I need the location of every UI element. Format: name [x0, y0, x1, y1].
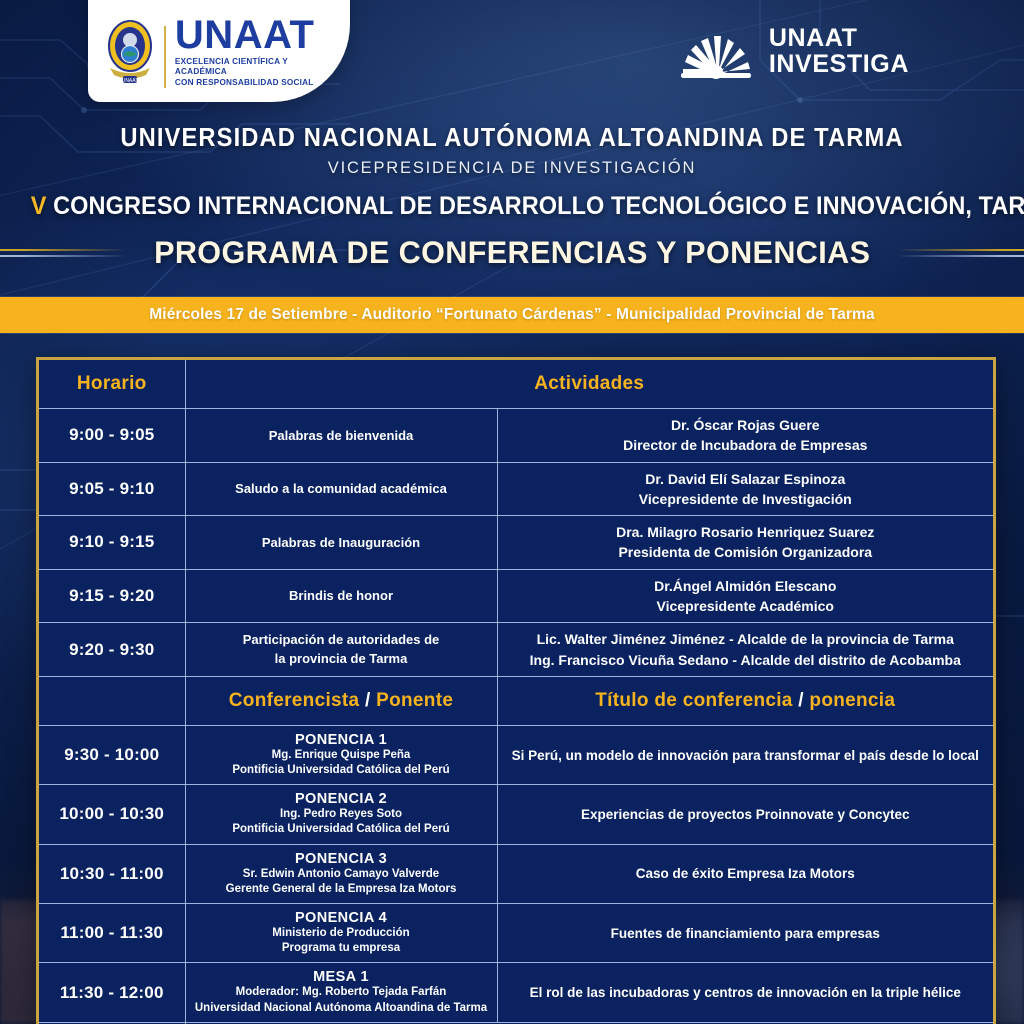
header-slash: /: [793, 690, 810, 711]
rule-left: [0, 247, 127, 259]
unaat-logo-card: UNAAT UNAAT EXCELENCIA CIENTÍFICA Y ACAD…: [88, 0, 350, 102]
cell-speaker: MESA 1 Moderador: Mg. Roberto Tejada Far…: [185, 963, 497, 1022]
cell-time: 9:30 - 10:00: [39, 725, 185, 784]
person-role: Director de Incubadora de Empresas: [506, 435, 986, 455]
congress-title: V CONGRESO INTERNACIONAL DE DESARROLLO T…: [31, 192, 994, 221]
moderator-name: Moderador: Mg. Roberto Tejada Farfán: [194, 985, 489, 1000]
investiga-line1: UNAAT: [769, 25, 909, 51]
date-venue-text: Miércoles 17 de Setiembre - Auditorio “F…: [149, 306, 875, 324]
header-ponente-text: Ponente: [376, 690, 453, 711]
cell-time: 9:10 - 9:15: [39, 516, 185, 570]
speaker-name: Mg. Enrique Quispe Peña: [194, 748, 489, 763]
cell-time: 9:00 - 9:05: [39, 409, 185, 463]
person-name: Dr. David Elí Salazar Espinoza: [506, 469, 986, 489]
person-role: Vicepresidente de Investigación: [506, 489, 986, 509]
cell-activity: Palabras de Inauguración: [185, 516, 497, 570]
cell-activity: Saludo a la comunidad académica: [185, 462, 497, 516]
table-row: 11:00 - 11:30 PONENCIA 4 Ministerio de P…: [39, 904, 993, 963]
cell-talk-title: Experiencias de proyectos Proinnovate y …: [497, 785, 993, 844]
moderator-affiliation: Universidad Nacional Autónoma Altoandina…: [194, 1001, 489, 1016]
cell-speaker: PONENCIA 1 Mg. Enrique Quispe Peña Ponti…: [185, 725, 497, 784]
table-row: 9:30 - 10:00 PONENCIA 1 Mg. Enrique Quis…: [39, 725, 993, 784]
header-slash: /: [359, 690, 376, 711]
person-name: Dr.Ángel Almidón Elescano: [506, 576, 986, 596]
cell-person: Dr. Óscar Rojas Guere Director de Incuba…: [497, 409, 993, 463]
cell-activity: Participación de autoridades de la provi…: [185, 623, 497, 677]
cell-time: 11:00 - 11:30: [39, 904, 185, 963]
date-venue-band: Miércoles 17 de Setiembre - Auditorio “F…: [0, 297, 1024, 333]
cell-person: Lic. Walter Jiménez Jiménez - Alcalde de…: [497, 623, 993, 677]
ponencia-label: PONENCIA 3: [194, 851, 489, 867]
ponencia-label: PONENCIA 4: [194, 910, 489, 926]
person-name: Dra. Milagro Rosario Henriquez Suarez: [506, 522, 986, 542]
speaker-name: Ing. Pedro Reyes Soto: [194, 807, 489, 822]
program-table-container: Horario Actividades 9:00 - 9:05 Palabras…: [36, 357, 996, 1024]
title-block: UNIVERSIDAD NACIONAL AUTÓNOMA ALTOANDINA…: [0, 124, 1024, 271]
cell-activity: Palabras de bienvenida: [185, 409, 497, 463]
speaker-name: Sr. Edwin Antonio Camayo Valverde: [194, 867, 489, 882]
svg-text:UNAAT: UNAAT: [122, 78, 139, 84]
person-name: Lic. Walter Jiménez Jiménez - Alcalde de…: [506, 629, 986, 649]
congress-roman-numeral: V: [31, 192, 47, 220]
program-table: Horario Actividades 9:00 - 9:05 Palabras…: [39, 360, 993, 1024]
table-section-header-row: Conferencista / Ponente Título de confer…: [39, 676, 993, 725]
table-row: 9:10 - 9:15 Palabras de Inauguración Dra…: [39, 516, 993, 570]
table-row: 9:15 - 9:20 Brindis de honor Dr.Ángel Al…: [39, 569, 993, 623]
column-header-titulo: Título de conferencia / ponencia: [497, 676, 993, 725]
university-title: UNIVERSIDAD NACIONAL AUTÓNOMA ALTOANDINA…: [36, 124, 988, 153]
sunburst-rays-icon: [679, 22, 753, 80]
person-role: Vicepresidente Académico: [506, 596, 986, 616]
cell-time: 9:05 - 9:10: [39, 462, 185, 516]
cell-talk-title: Si Perú, un modelo de innovación para tr…: [497, 725, 993, 784]
cell-talk-title: El rol de las incubadoras y centros de i…: [497, 963, 993, 1022]
program-title-row: PROGRAMA DE CONFERENCIAS Y PONENCIAS: [0, 234, 1024, 271]
cell-person: Dr. David Elí Salazar Espinoza Vicepresi…: [497, 462, 993, 516]
speaker-name: Ministerio de Producción: [194, 926, 489, 941]
table-row: 9:00 - 9:05 Palabras de bienvenida Dr. Ó…: [39, 409, 993, 463]
table-header-row: Horario Actividades: [39, 360, 993, 409]
unaat-tagline-line2: CON RESPONSABILIDAD SOCIAL: [175, 78, 336, 89]
speaker-affiliation: Programa tu empresa: [194, 941, 489, 956]
cell-time: 10:00 - 10:30: [39, 785, 185, 844]
column-header-horario: Horario: [39, 360, 185, 409]
person-name: Dr. Óscar Rojas Guere: [506, 415, 986, 435]
cell-person: Dra. Milagro Rosario Henriquez Suarez Pr…: [497, 516, 993, 570]
cell-talk-title: Fuentes de financiamiento para empresas: [497, 904, 993, 963]
vicepresidency-subtitle: VICEPRESIDENCIA DE INVESTIGACIÓN: [0, 159, 1024, 178]
activity-line2: la provincia de Tarma: [194, 650, 489, 669]
header-conferencista-text: Conferencista: [229, 690, 360, 711]
cell-speaker: PONENCIA 4 Ministerio de Producción Prog…: [185, 904, 497, 963]
cell-person: Dr.Ángel Almidón Elescano Vicepresidente…: [497, 569, 993, 623]
person-role: Presidenta de Comisión Organizadora: [506, 542, 986, 562]
section-header-spacer: [39, 676, 185, 725]
unaat-tagline-line1: EXCELENCIA CIENTÍFICA Y ACADÉMICA: [175, 57, 336, 78]
cell-time: 11:30 - 12:00: [39, 963, 185, 1022]
table-row: 9:05 - 9:10 Saludo a la comunidad académ…: [39, 462, 993, 516]
table-row: 10:30 - 11:00 PONENCIA 3 Sr. Edwin Anton…: [39, 844, 993, 903]
cell-speaker: PONENCIA 2 Ing. Pedro Reyes Soto Pontifi…: [185, 785, 497, 844]
cell-speaker: PONENCIA 3 Sr. Edwin Antonio Camayo Valv…: [185, 844, 497, 903]
cell-time: 10:30 - 11:00: [39, 844, 185, 903]
header-ponencia-text: ponencia: [809, 690, 895, 711]
ponencia-label: PONENCIA 1: [194, 732, 489, 748]
cell-time: 9:15 - 9:20: [39, 569, 185, 623]
table-row: 10:00 - 10:30 PONENCIA 2 Ing. Pedro Reye…: [39, 785, 993, 844]
person-role: Ing. Francisco Vicuña Sedano - Alcalde d…: [506, 650, 986, 670]
speaker-affiliation: Gerente General de la Empresa Iza Motors: [194, 882, 489, 897]
congress-title-text: CONGRESO INTERNACIONAL DE DESARROLLO TEC…: [46, 192, 1024, 220]
mesa-label: MESA 1: [194, 969, 489, 985]
table-row: 9:20 - 9:30 Participación de autoridades…: [39, 623, 993, 677]
speaker-affiliation: Pontificia Universidad Católica del Perú: [194, 763, 489, 778]
cell-talk-title: Caso de éxito Empresa Iza Motors: [497, 844, 993, 903]
table-row: 11:30 - 12:00 MESA 1 Moderador: Mg. Robe…: [39, 963, 993, 1022]
program-title: PROGRAMA DE CONFERENCIAS Y PONENCIAS: [154, 234, 870, 271]
cell-time: 9:20 - 9:30: [39, 623, 185, 677]
rule-right: [897, 247, 1024, 259]
unaat-investiga-logo: UNAAT INVESTIGA: [679, 22, 909, 80]
activity-line1: Participación de autoridades de: [194, 631, 489, 650]
unaat-wordmark: UNAAT: [175, 16, 336, 54]
conference-program-poster: UNAAT UNAAT EXCELENCIA CIENTÍFICA Y ACAD…: [0, 0, 1024, 1024]
ponencia-label: PONENCIA 2: [194, 791, 489, 807]
cell-activity: Brindis de honor: [185, 569, 497, 623]
column-header-conferencista: Conferencista / Ponente: [185, 676, 497, 725]
header-titulo-text: Título de conferencia: [595, 690, 792, 711]
university-crest-icon: UNAAT: [104, 16, 156, 88]
column-header-actividades: Actividades: [185, 360, 993, 409]
logo-divider: [164, 26, 166, 88]
speaker-affiliation: Pontificia Universidad Católica del Perú: [194, 822, 489, 837]
investiga-line2: INVESTIGA: [769, 51, 909, 77]
